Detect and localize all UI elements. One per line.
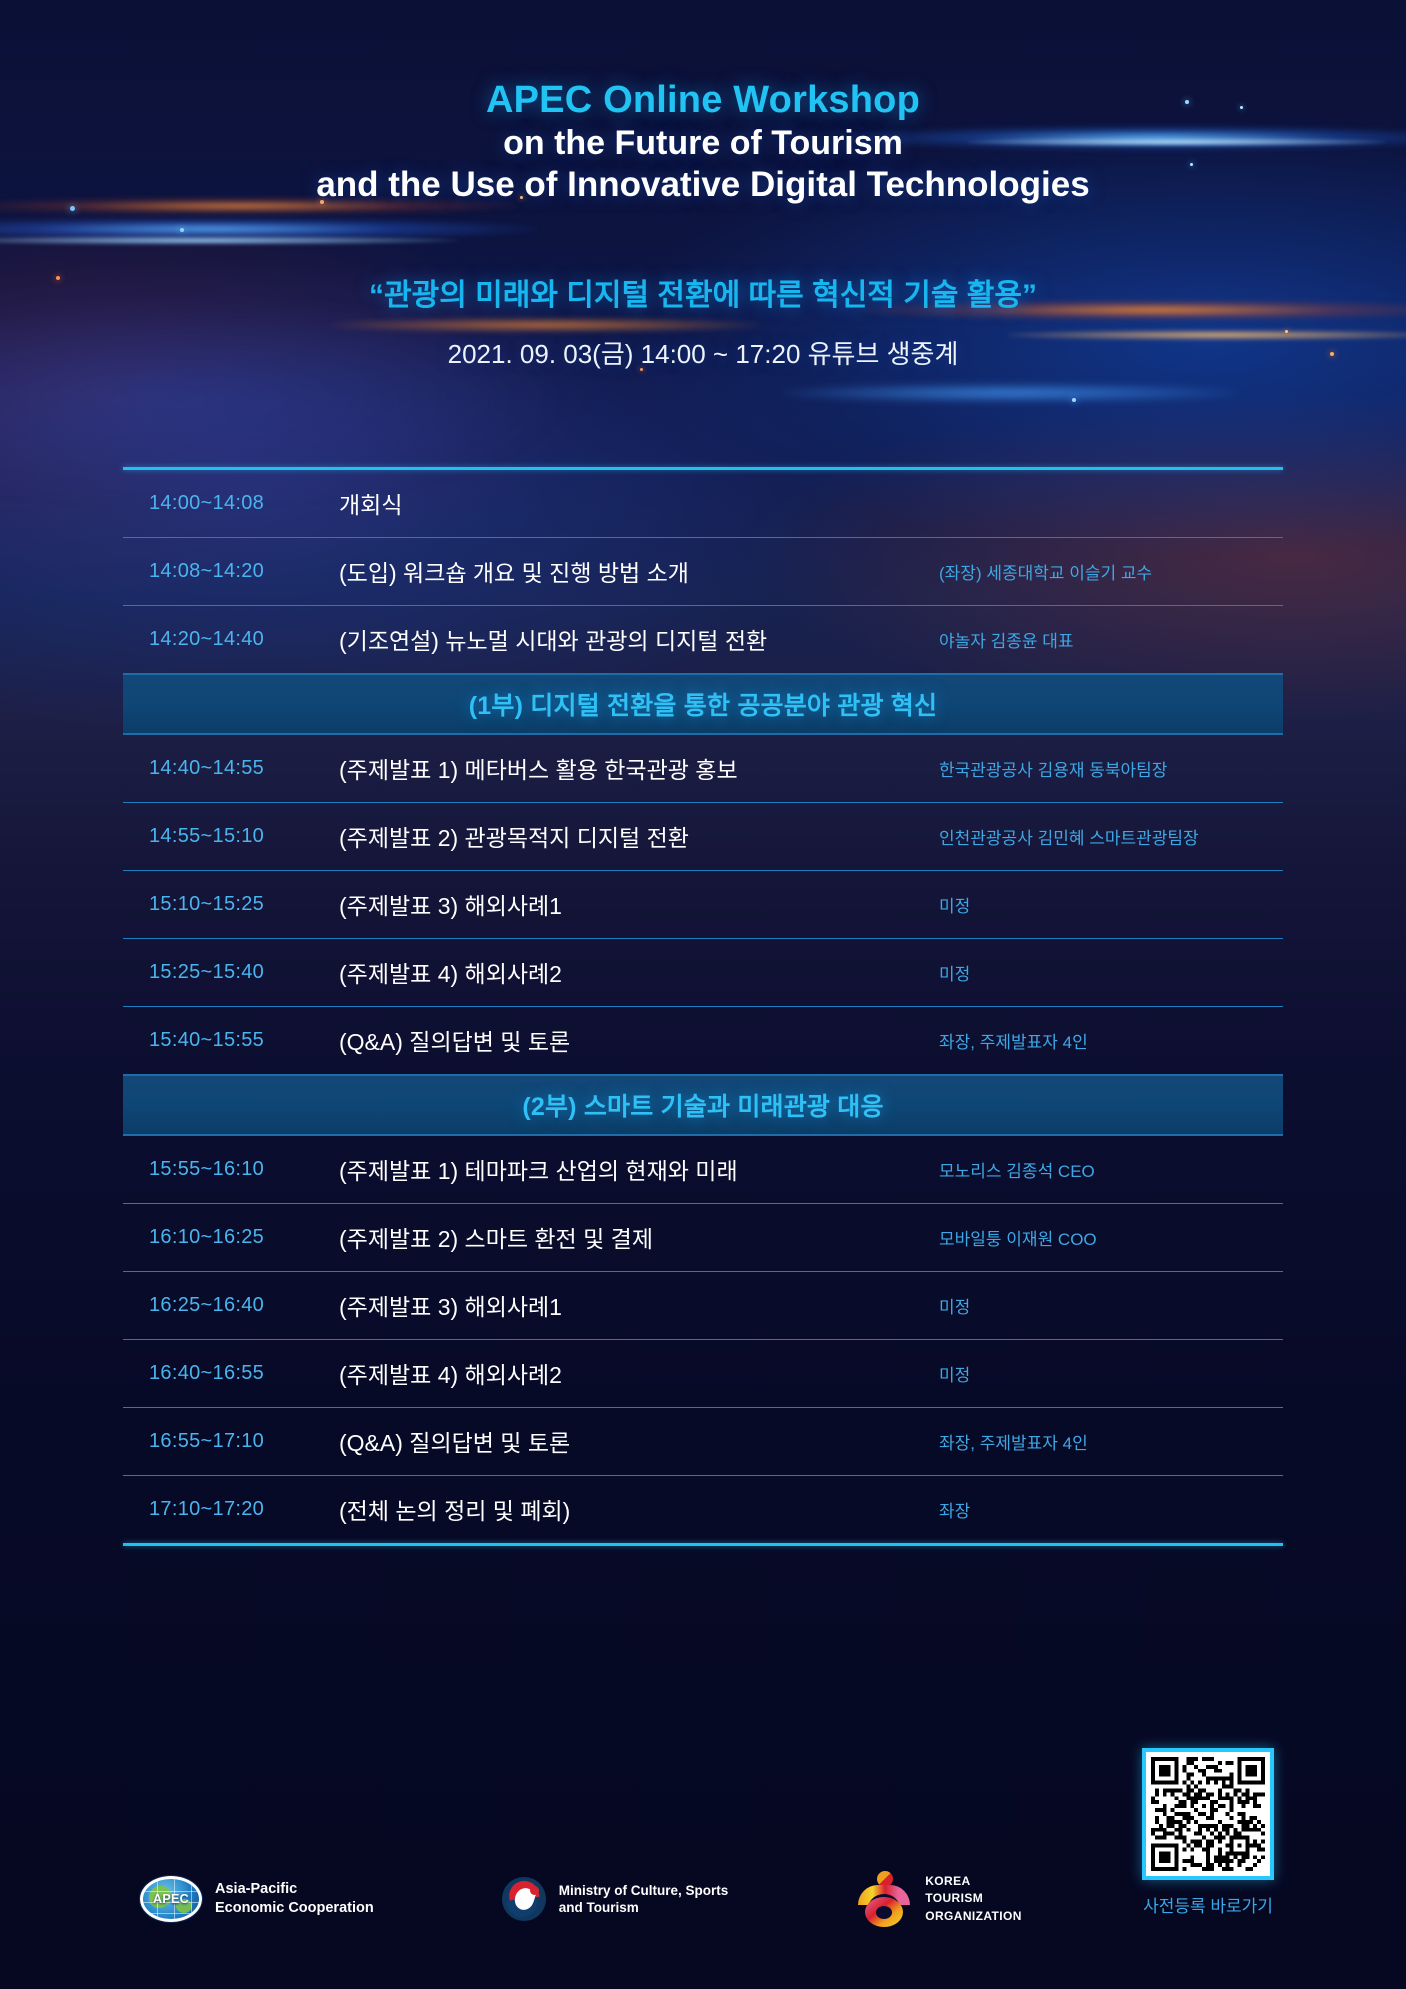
schedule-row-topic: (주제발표 2) 관광목적지 디지털 전환	[339, 819, 939, 853]
schedule-row-topic: (주제발표 4) 해외사례2	[339, 955, 939, 989]
schedule-row-topic: (Q&A) 질의답변 및 토론	[339, 1424, 939, 1458]
schedule-row-speaker: 미정	[939, 892, 1259, 917]
schedule-row-topic: 개회식	[339, 486, 939, 520]
schedule-row-speaker: 야놀자 김종윤 대표	[939, 627, 1259, 652]
schedule-row-time: 16:55~17:10	[149, 1430, 339, 1453]
spark-dot	[1072, 398, 1076, 402]
schedule-row: 15:55~16:10(주제발표 1) 테마파크 산업의 현재와 미래모노리스 …	[123, 1136, 1283, 1203]
schedule-row-topic: (도입) 워크숍 개요 및 진행 방법 소개	[339, 554, 939, 588]
schedule-section-header: (2부) 스마트 기술과 미래관광 대응	[123, 1074, 1283, 1136]
sponsor-logos: APEC Asia-Pacific Economic Cooperation M…	[140, 1871, 1022, 1927]
schedule-row: 16:55~17:10(Q&A) 질의답변 및 토론좌장, 주제발표자 4인	[123, 1408, 1283, 1475]
workshop-title-line-2: on the Future of Tourism	[0, 123, 1406, 164]
schedule-row-topic: (주제발표 4) 해외사례2	[339, 1356, 939, 1390]
workshop-subtitle-korean: “관광의 미래와 디지털 전환에 따른 혁신적 기술 활용”	[0, 270, 1406, 314]
schedule-row-topic: (주제발표 1) 메타버스 활용 한국관광 홍보	[339, 751, 939, 785]
schedule-row-time: 15:40~15:55	[149, 1029, 339, 1052]
schedule-row-time: 15:10~15:25	[149, 893, 339, 916]
registration-qr-block[interactable]: 사전등록 바로가기	[1130, 1748, 1286, 1917]
logo-kto: KOREA TOURISM ORGANIZATION	[856, 1871, 1022, 1927]
schedule-row-topic: (주제발표 1) 테마파크 산업의 현재와 미래	[339, 1152, 939, 1186]
schedule-row: 14:08~14:20(도입) 워크숍 개요 및 진행 방법 소개(좌장) 세종…	[123, 538, 1283, 605]
schedule-row: 14:40~14:55(주제발표 1) 메타버스 활용 한국관광 홍보한국관광공…	[123, 735, 1283, 802]
poster-footer: APEC Asia-Pacific Economic Cooperation M…	[0, 1689, 1406, 1989]
qr-code-icon[interactable]	[1142, 1748, 1274, 1880]
logo-mcst-text: Ministry of Culture, Sports and Tourism	[559, 1882, 729, 1917]
schedule-row: 16:10~16:25(주제발표 2) 스마트 환전 및 결제모바일퉁 이재원 …	[123, 1204, 1283, 1271]
mcst-taegeuk-icon	[502, 1877, 546, 1921]
schedule-section-label: (1부) 디지털 전환을 통한 공공분야 관광 혁신	[469, 686, 937, 722]
schedule-row-speaker: 한국관광공사 김용재 동북아팀장	[939, 756, 1259, 781]
workshop-title-line-1: APEC Online Workshop	[0, 78, 1406, 123]
poster-header: APEC Online Workshop on the Future of To…	[0, 0, 1406, 371]
schedule-row-time: 15:25~15:40	[149, 961, 339, 984]
schedule-row-time: 14:55~15:10	[149, 825, 339, 848]
schedule-row: 16:40~16:55(주제발표 4) 해외사례2미정	[123, 1340, 1283, 1407]
schedule-row-topic: (전체 논의 정리 및 폐회)	[339, 1492, 939, 1526]
schedule-row: 17:10~17:20(전체 논의 정리 및 폐회)좌장	[123, 1476, 1283, 1543]
apec-globe-icon: APEC	[140, 1876, 202, 1922]
poster-canvas: APEC Online Workshop on the Future of To…	[0, 0, 1406, 1989]
schedule-row-time: 16:10~16:25	[149, 1226, 339, 1249]
schedule-row-speaker: 미정	[939, 1293, 1259, 1318]
schedule-row-time: 14:40~14:55	[149, 757, 339, 780]
logo-apec-line-2: Economic Cooperation	[215, 1899, 374, 1918]
schedule-row: 16:25~16:40(주제발표 3) 해외사례1미정	[123, 1272, 1283, 1339]
schedule-row: 15:40~15:55(Q&A) 질의답변 및 토론좌장, 주제발표자 4인	[123, 1007, 1283, 1074]
schedule-row-time: 14:20~14:40	[149, 628, 339, 651]
logo-apec-text: Asia-Pacific Economic Cooperation	[215, 1880, 374, 1917]
schedule-row-time: 15:55~16:10	[149, 1158, 339, 1181]
schedule-row-time: 17:10~17:20	[149, 1498, 339, 1521]
schedule-row: 14:55~15:10(주제발표 2) 관광목적지 디지털 전환인천관광공사 김…	[123, 803, 1283, 870]
logo-kto-line-3: ORGANIZATION	[925, 1908, 1022, 1925]
schedule-row-speaker: 좌장	[939, 1497, 1259, 1522]
schedule-row-speaker: 미정	[939, 1361, 1259, 1386]
logo-mcst-line-2: and Tourism	[559, 1899, 729, 1916]
logo-apec-line-1: Asia-Pacific	[215, 1880, 374, 1899]
workshop-datetime: 2021. 09. 03(금) 14:00 ~ 17:20 유튜브 생중계	[0, 334, 1406, 371]
logo-kto-line-1: KOREA	[925, 1873, 1022, 1890]
qr-caption: 사전등록 바로가기	[1130, 1892, 1286, 1917]
logo-mcst-line-1: Ministry of Culture, Sports	[559, 1882, 729, 1899]
workshop-title-line-3: and the Use of Innovative Digital Techno…	[0, 164, 1406, 207]
schedule-row-topic: (주제발표 2) 스마트 환전 및 결제	[339, 1220, 939, 1254]
schedule-body: 14:00~14:08개회식14:08~14:20(도입) 워크숍 개요 및 진…	[123, 470, 1283, 1543]
schedule-row-speaker: 좌장, 주제발표자 4인	[939, 1028, 1259, 1053]
schedule-row: 14:00~14:08개회식	[123, 470, 1283, 537]
schedule-row: 14:20~14:40(기조연설) 뉴노멀 시대와 관광의 디지털 전환야놀자 …	[123, 606, 1283, 673]
schedule-section-label: (2부) 스마트 기술과 미래관광 대응	[522, 1087, 883, 1123]
logo-apec: APEC Asia-Pacific Economic Cooperation	[140, 1876, 374, 1922]
logo-mcst: Ministry of Culture, Sports and Tourism	[502, 1877, 729, 1921]
schedule-section-header: (1부) 디지털 전환을 통한 공공분야 관광 혁신	[123, 673, 1283, 735]
logo-kto-line-2: TOURISM	[925, 1890, 1022, 1907]
schedule-row-speaker: (좌장) 세종대학교 이슬기 교수	[939, 559, 1259, 584]
schedule-row-time: 16:25~16:40	[149, 1294, 339, 1317]
logo-kto-text: KOREA TOURISM ORGANIZATION	[925, 1873, 1022, 1925]
schedule-row-topic: (주제발표 3) 해외사례1	[339, 1288, 939, 1322]
schedule-row-speaker: 인천관광공사 김민혜 스마트관광팀장	[939, 824, 1259, 849]
schedule-row-speaker: 모노리스 김종석 CEO	[939, 1157, 1259, 1182]
schedule-table: 14:00~14:08개회식14:08~14:20(도입) 워크숍 개요 및 진…	[123, 467, 1283, 1546]
schedule-row-topic: (Q&A) 질의답변 및 토론	[339, 1023, 939, 1057]
schedule-row: 15:10~15:25(주제발표 3) 해외사례1미정	[123, 871, 1283, 938]
schedule-row-speaker: 모바일퉁 이재원 COO	[939, 1225, 1259, 1250]
schedule-row-topic: (주제발표 3) 해외사례1	[339, 887, 939, 921]
schedule-row-time: 16:40~16:55	[149, 1362, 339, 1385]
kto-figure-icon	[856, 1871, 912, 1927]
schedule-row-topic: (기조연설) 뉴노멀 시대와 관광의 디지털 전환	[339, 622, 939, 656]
schedule-row-speaker: 좌장, 주제발표자 4인	[939, 1429, 1259, 1454]
schedule-row-time: 14:00~14:08	[149, 492, 339, 515]
table-bottom-rule	[123, 1543, 1283, 1546]
schedule-row: 15:25~15:40(주제발표 4) 해외사례2미정	[123, 939, 1283, 1006]
light-streak-blue-bottom	[780, 384, 1240, 402]
schedule-row-time: 14:08~14:20	[149, 560, 339, 583]
schedule-row-speaker: 미정	[939, 960, 1259, 985]
